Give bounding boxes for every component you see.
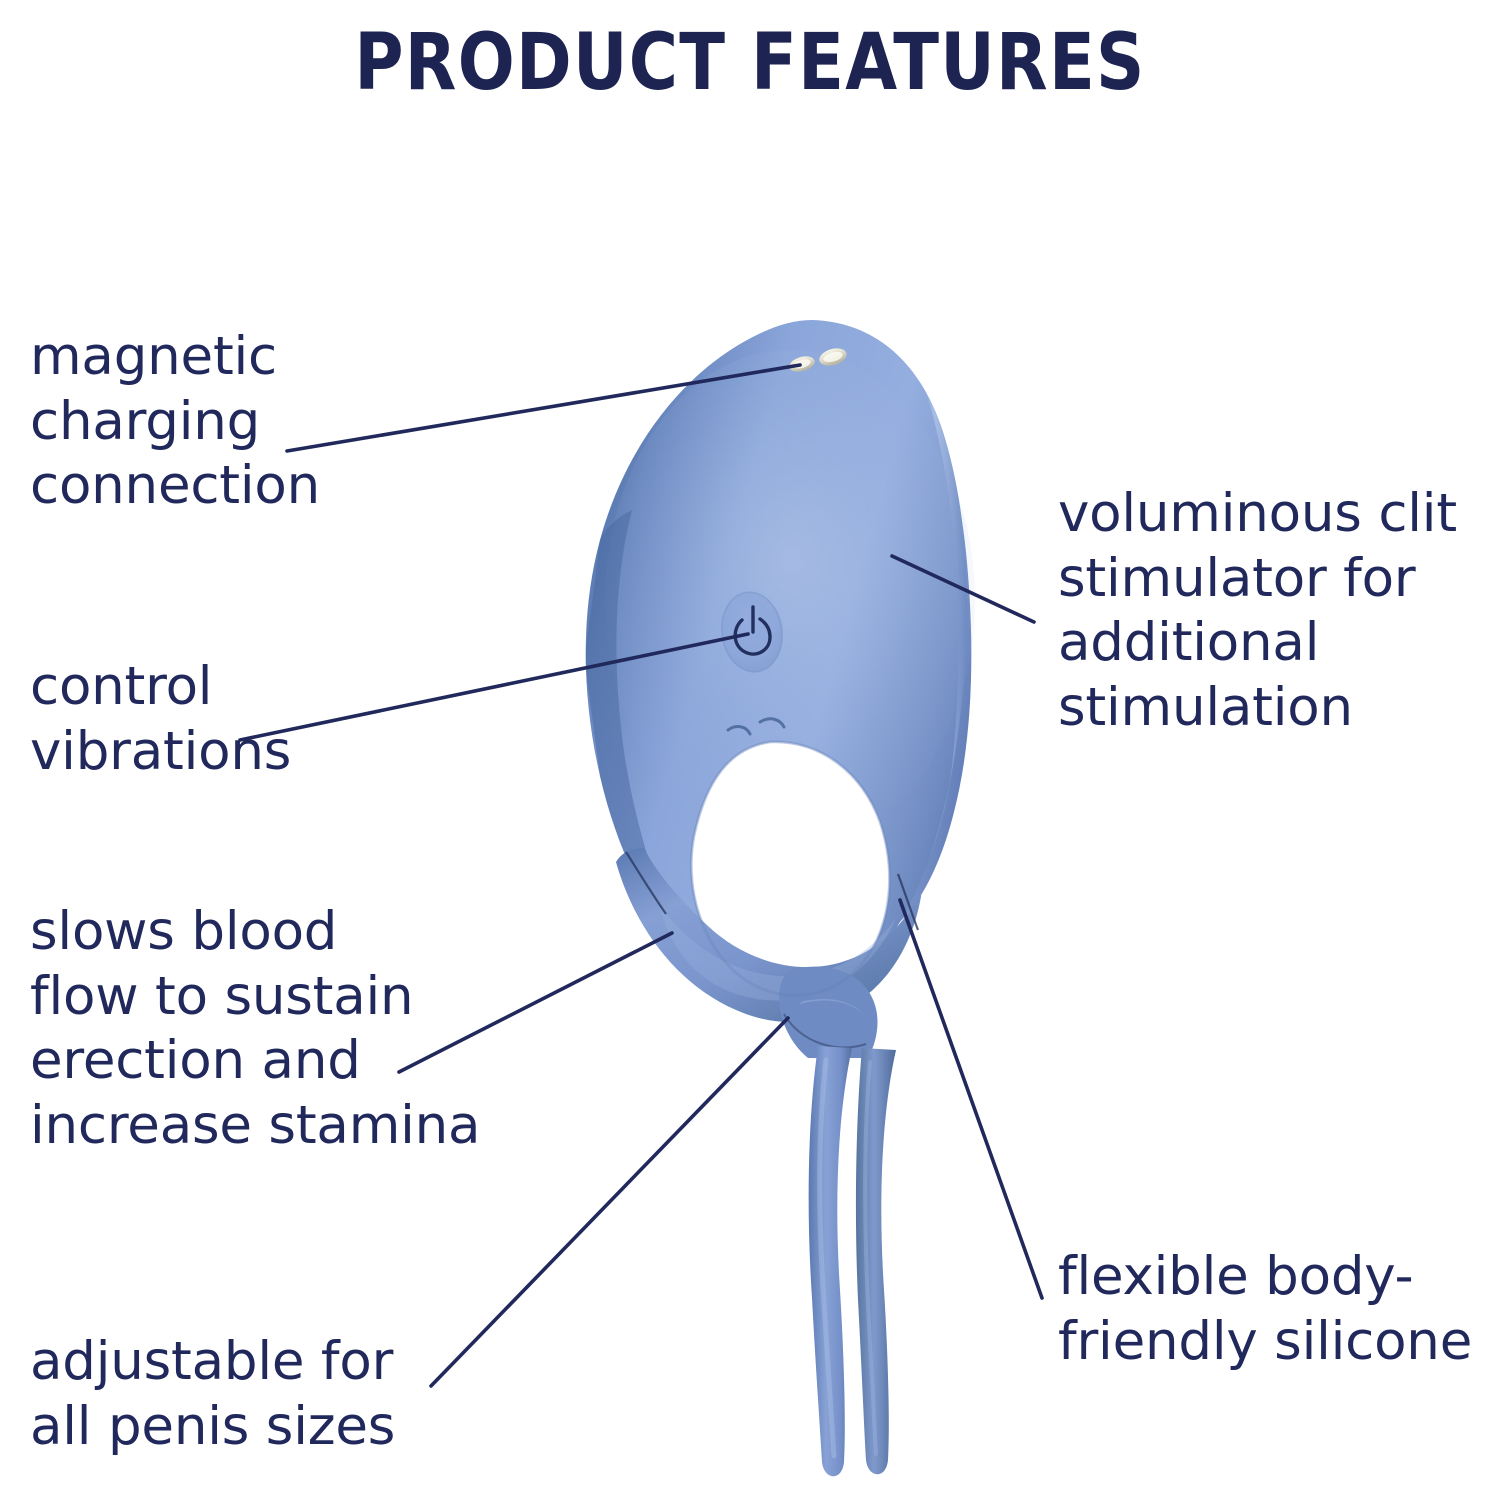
callout-label-adjustable-for-all-penis-sizes: adjustable for all penis sizes (30, 1330, 395, 1459)
callout-label-control-vibrations: control vibrations (30, 655, 291, 784)
callout-label-magnetic-charging-connection: magnetic charging connection (30, 325, 320, 519)
leader-flexible (900, 900, 1042, 1298)
silicone-tails (809, 1046, 896, 1476)
callout-label-slows-blood-flow: slows blood flow to sustain erection and… (30, 900, 480, 1159)
product-features-infographic: PRODUCT FEATURES (0, 0, 1500, 1500)
callout-label-flexible-body-friendly-silicone: flexible body- friendly silicone (1058, 1245, 1472, 1374)
leader-adjustable (431, 1018, 788, 1386)
callout-label-voluminous-clit-stimulator: voluminous clit stimulator for additiona… (1058, 482, 1457, 741)
